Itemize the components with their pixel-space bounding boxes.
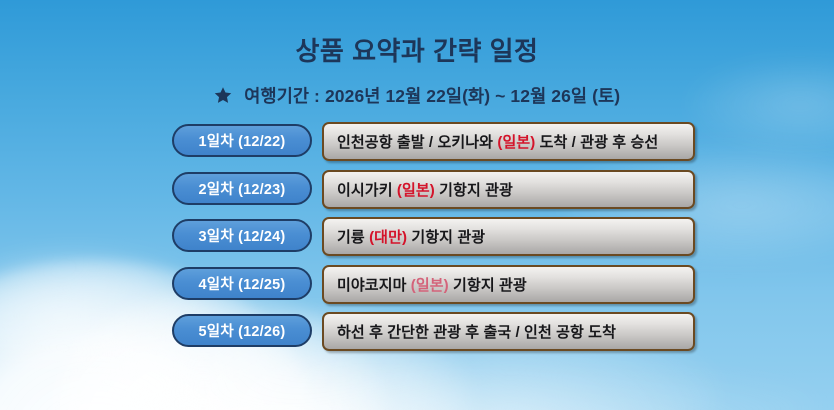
schedule-row: 3일차 (12/24)기륭 (대만) 기항지 관광 xyxy=(172,217,702,257)
itinerary-detail-box[interactable]: 인천공항 출발 / 오키나와 (일본) 도착 / 관광 후 승선 xyxy=(322,122,695,161)
itinerary-detail-box[interactable]: 이시가키 (일본) 기항지 관광 xyxy=(322,170,695,209)
detail-segment: 하선 후 간단한 관광 후 출국 / 인천 공항 도착 xyxy=(337,324,616,341)
slide-canvas: 상품 요약과 간략 일정 여행기간 : 2026년 12월 22일(화) ~ 1… xyxy=(0,0,834,410)
schedule-row: 5일차 (12/26)하선 후 간단한 관광 후 출국 / 인천 공항 도착 xyxy=(172,312,702,352)
schedule-row: 4일차 (12/25)미야코지마 (일본) 기항지 관광 xyxy=(172,265,702,305)
day-badge[interactable]: 5일차 (12/26) xyxy=(172,314,312,347)
schedule-row: 1일차 (12/22)인천공항 출발 / 오키나와 (일본) 도착 / 관광 후… xyxy=(172,122,702,162)
schedule-row: 2일차 (12/23)이시가키 (일본) 기항지 관광 xyxy=(172,170,702,210)
detail-segment: 이시가키 xyxy=(337,182,397,199)
country-highlight: (대만) xyxy=(369,229,407,246)
itinerary-detail-text: 기륭 (대만) 기항지 관광 xyxy=(337,226,485,247)
detail-segment: 기항지 관광 xyxy=(407,229,485,246)
itinerary-detail-box[interactable]: 미야코지마 (일본) 기항지 관광 xyxy=(322,265,695,304)
day-badge[interactable]: 2일차 (12/23) xyxy=(172,172,312,205)
page-title: 상품 요약과 간략 일정 xyxy=(0,31,834,68)
day-badge[interactable]: 1일차 (12/22) xyxy=(172,124,312,157)
travel-period-text: 여행기간 : 2026년 12월 22일(화) ~ 12월 26일 (토) xyxy=(244,83,620,108)
itinerary-detail-text: 하선 후 간단한 관광 후 출국 / 인천 공항 도착 xyxy=(337,321,616,342)
itinerary-detail-text: 미야코지마 (일본) 기항지 관광 xyxy=(337,274,527,295)
detail-segment: 기항지 관광 xyxy=(435,182,513,199)
detail-segment: 기항지 관광 xyxy=(449,277,527,294)
country-highlight: (일본) xyxy=(411,277,449,294)
itinerary-detail-box[interactable]: 기륭 (대만) 기항지 관광 xyxy=(322,217,695,256)
itinerary-detail-text: 이시가키 (일본) 기항지 관광 xyxy=(337,179,513,200)
cloud-shape xyxy=(120,360,820,410)
detail-segment: 도착 / 관광 후 승선 xyxy=(535,134,658,151)
detail-segment: 기륭 xyxy=(337,229,369,246)
itinerary-detail-box[interactable]: 하선 후 간단한 관광 후 출국 / 인천 공항 도착 xyxy=(322,312,695,351)
itinerary-detail-text: 인천공항 출발 / 오키나와 (일본) 도착 / 관광 후 승선 xyxy=(337,131,658,152)
detail-segment: 인천공항 출발 / 오키나와 xyxy=(337,134,497,151)
star-icon xyxy=(214,86,232,109)
detail-segment: 미야코지마 xyxy=(337,277,411,294)
country-highlight: (일본) xyxy=(497,134,535,151)
day-badge[interactable]: 3일차 (12/24) xyxy=(172,219,312,252)
country-highlight: (일본) xyxy=(397,182,435,199)
travel-period-line: 여행기간 : 2026년 12월 22일(화) ~ 12월 26일 (토) xyxy=(0,83,834,109)
schedule-list: 1일차 (12/22)인천공항 출발 / 오키나와 (일본) 도착 / 관광 후… xyxy=(172,122,702,360)
day-badge[interactable]: 4일차 (12/25) xyxy=(172,267,312,300)
